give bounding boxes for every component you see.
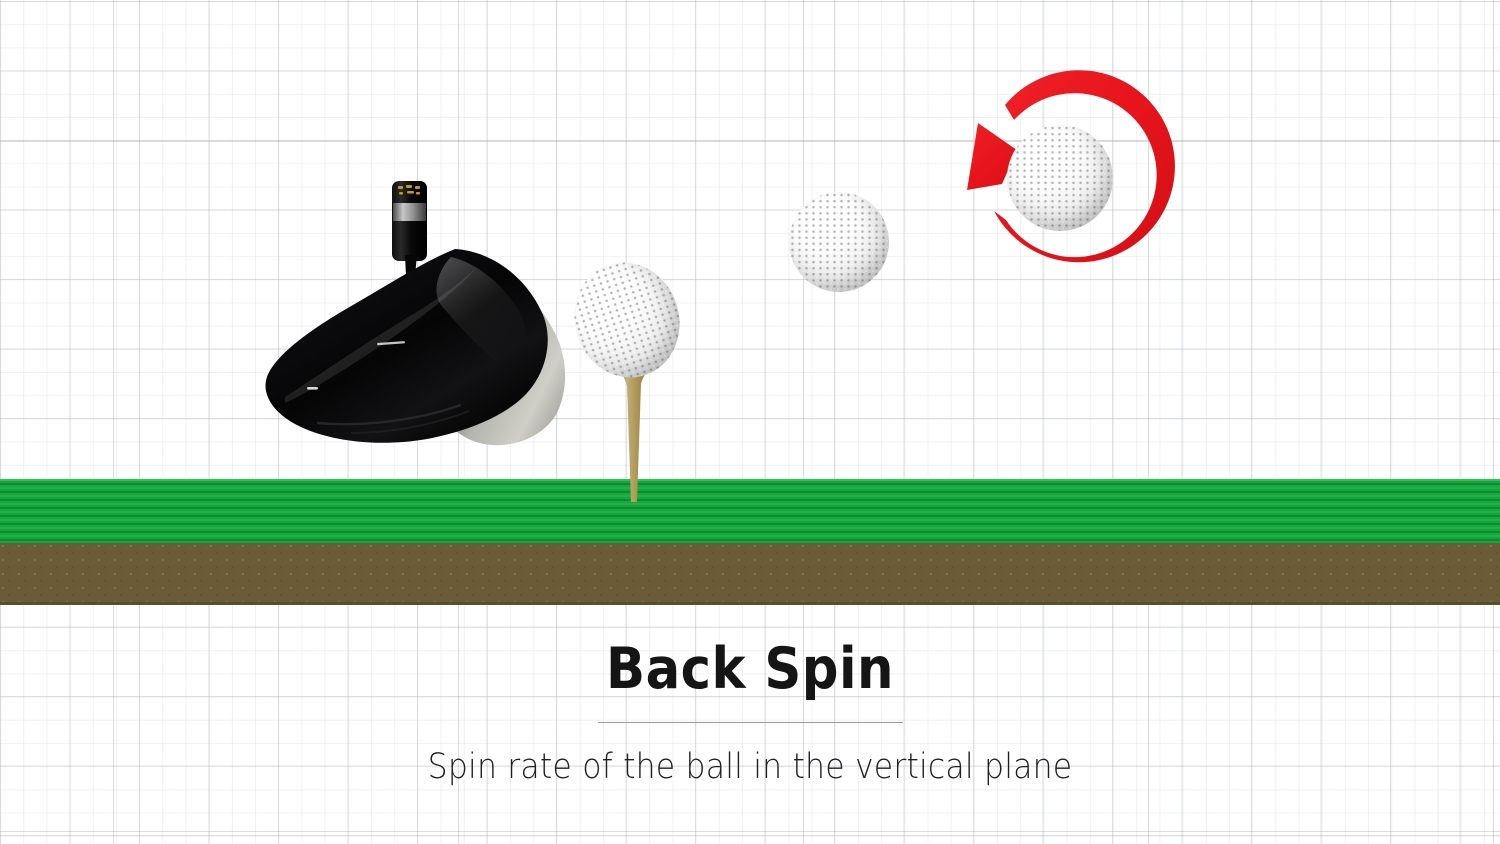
ball-dimple-highlight <box>789 192 889 292</box>
club-highlight-2 <box>307 387 318 390</box>
soil-band <box>0 543 1500 605</box>
turf-top-highlight <box>0 479 1500 481</box>
page-subtitle: Spin rate of the ball in the vertical pl… <box>75 747 1425 787</box>
ball-dimple-highlight <box>1007 125 1113 231</box>
golf-ball-spinning <box>1007 125 1113 231</box>
golf-driver-club <box>255 165 615 455</box>
title-divider <box>598 722 903 723</box>
golf-ball-in-flight <box>789 192 889 292</box>
soil-bottom-edge <box>0 602 1500 605</box>
page-title: Back Spin <box>75 640 1425 700</box>
grass-turf-band <box>0 479 1500 543</box>
caption-block: Back Spin Spin rate of the ball in the v… <box>0 640 1500 787</box>
back-spin-illustration: Back Spin Spin rate of the ball in the v… <box>0 0 1500 844</box>
